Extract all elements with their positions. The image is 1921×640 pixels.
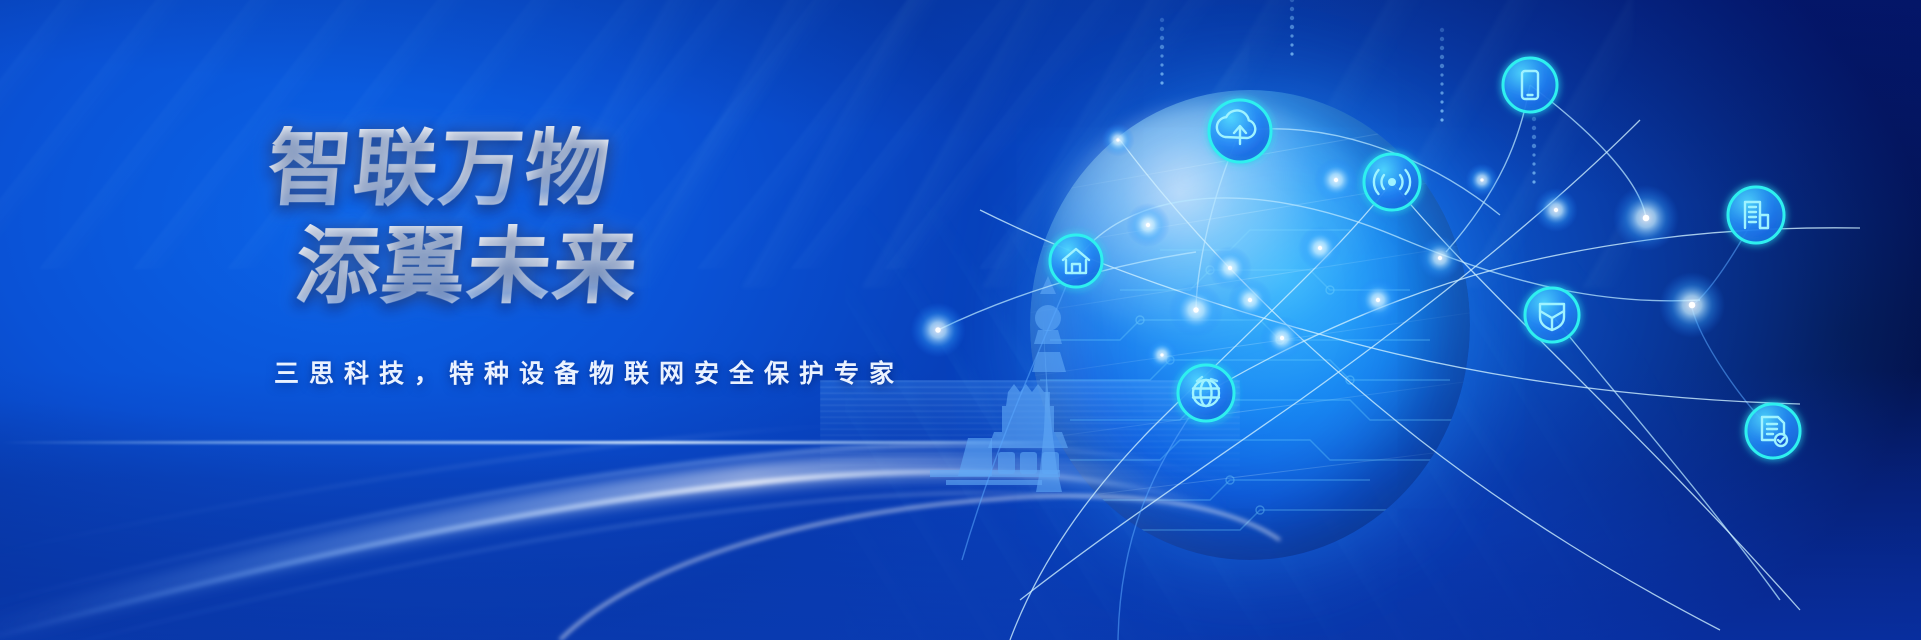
icon-node-globe[interactable] — [1178, 365, 1234, 421]
icon-node-document[interactable] — [1746, 404, 1800, 458]
icon-node-home[interactable] — [1050, 235, 1102, 287]
icon-node-wifi[interactable] — [1364, 154, 1420, 210]
icon-node-phone[interactable] — [1503, 58, 1557, 112]
icon-node-shield[interactable] — [1525, 288, 1579, 342]
network-overlay — [0, 0, 1921, 640]
icon-node-cloud[interactable] — [1209, 100, 1271, 162]
banner-stage: 智联万物 添翼未来 三思科技，特种设备物联网安全保护专家 — [0, 0, 1921, 640]
icon-node-building[interactable] — [1728, 187, 1784, 243]
dotted-columns — [1160, 0, 1536, 184]
